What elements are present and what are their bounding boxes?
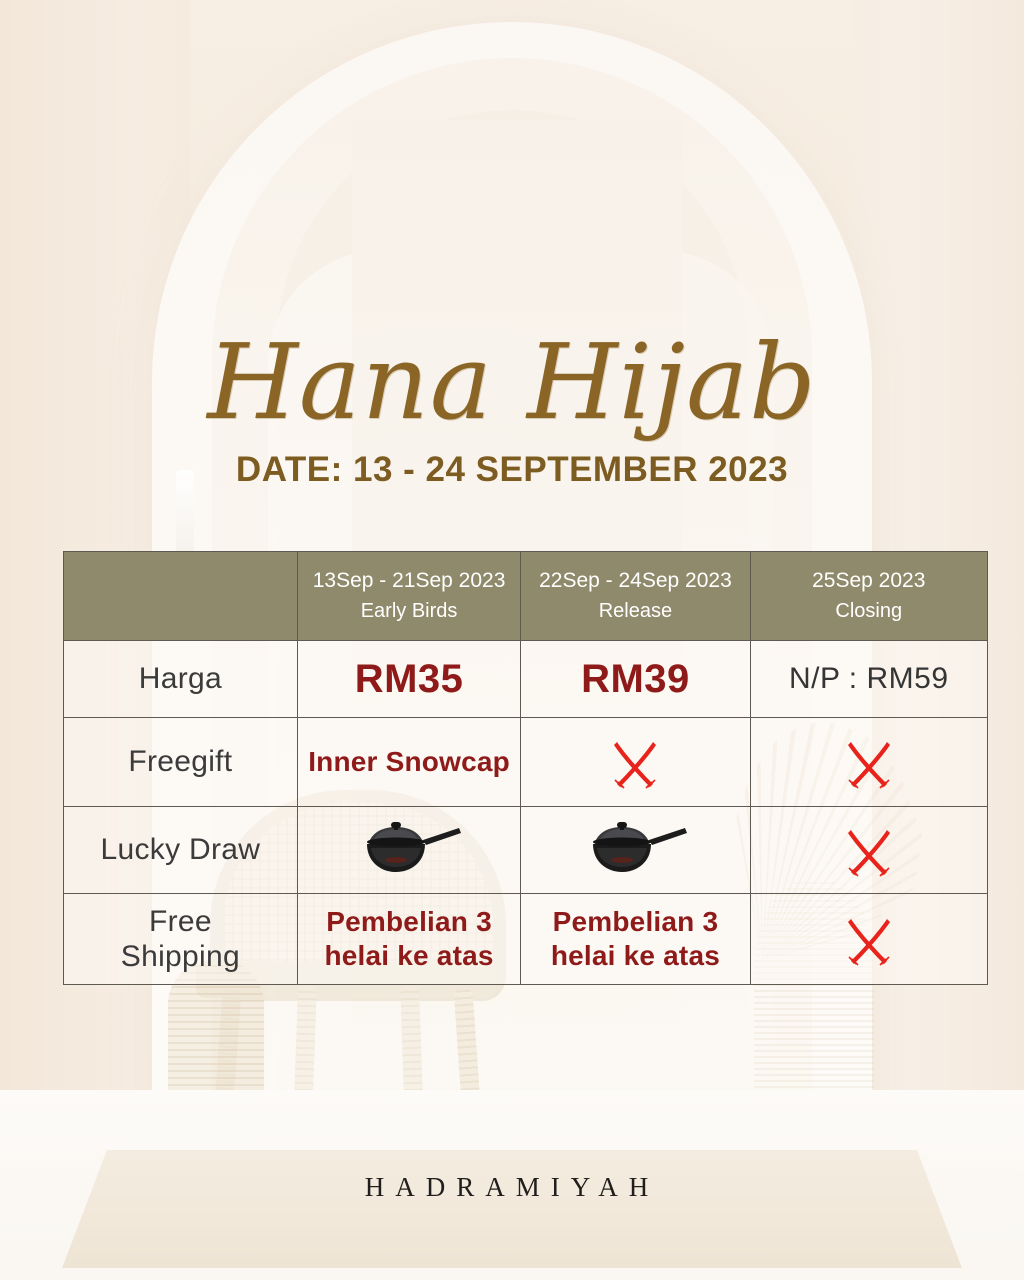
wok-pan-icon [575, 820, 695, 880]
cell-freegift-release [521, 718, 750, 807]
header-cell-release: 22Sep - 24Sep 2023 Release [521, 552, 750, 641]
cell-freegift-closing [750, 718, 988, 807]
row-label-lucky-draw: Lucky Draw [64, 807, 298, 894]
label-free-shipping-line2: Shipping [121, 940, 240, 973]
cell-harga-closing: N/P : RM59 [750, 641, 988, 718]
floor-rug [62, 1150, 962, 1268]
header-closing-dates: 25Sep 2023 [812, 569, 925, 592]
table-row-free-shipping: Free Shipping Pembelian 3 helai ke atas … [64, 894, 988, 985]
shipping-release: Pembelian 3 helai ke atas [551, 906, 720, 971]
chair-leg-back-left [294, 986, 317, 1099]
table-row-lucky-draw: Lucky Draw [64, 807, 988, 894]
header-early-birds-dates: 13Sep - 21Sep 2023 [313, 569, 506, 592]
shipping-early-birds: Pembelian 3 helai ke atas [324, 906, 493, 971]
header-release-label: Release [521, 597, 749, 626]
table-header-row: 13Sep - 21Sep 2023 Early Birds 22Sep - 2… [64, 552, 988, 641]
header-closing-label: Closing [751, 597, 988, 626]
cell-free-shipping-closing [750, 894, 988, 985]
label-freegift: Freegift [128, 745, 232, 778]
price-closing: N/P : RM59 [789, 662, 949, 695]
footer-brand: HADRAMIYAH [0, 1172, 1024, 1203]
cell-lucky-draw-release [521, 807, 750, 894]
x-mark-icon [841, 822, 897, 878]
label-free-shipping: Free Shipping [121, 905, 240, 973]
label-lucky-draw: Lucky Draw [101, 833, 261, 866]
header-early-birds-label: Early Birds [298, 597, 521, 626]
shipping-release-line1: Pembelian 3 [553, 906, 719, 937]
cell-lucky-draw-early-birds [297, 807, 521, 894]
cell-lucky-draw-closing [750, 807, 988, 894]
table-body: Harga RM35 RM39 N/P : RM59 Freegift [64, 641, 988, 985]
chair-leg-back-right [400, 986, 423, 1099]
table-row-freegift: Freegift Inner Snowcap [64, 718, 988, 807]
x-mark-icon [841, 911, 897, 967]
shipping-early-birds-line1: Pembelian 3 [326, 906, 492, 937]
cell-free-shipping-early-birds: Pembelian 3 helai ke atas [297, 894, 521, 985]
label-harga: Harga [139, 662, 222, 695]
promo-poster: Hana Hijab DATE: 13 - 24 SEPTEMBER 2023 … [0, 0, 1024, 1280]
promo-table: 13Sep - 21Sep 2023 Early Birds 22Sep - 2… [63, 551, 988, 985]
row-label-free-shipping: Free Shipping [64, 894, 298, 985]
header-cell-closing: 25Sep 2023 Closing [750, 552, 988, 641]
x-mark-icon [841, 734, 897, 790]
price-early-birds: RM35 [355, 657, 464, 701]
header-release-dates: 22Sep - 24Sep 2023 [539, 569, 732, 592]
wok-pan-icon [349, 820, 469, 880]
cell-free-shipping-release: Pembelian 3 helai ke atas [521, 894, 750, 985]
row-label-freegift: Freegift [64, 718, 298, 807]
x-mark-icon [607, 734, 663, 790]
shipping-release-line2: helai ke atas [551, 940, 720, 971]
promo-date-range: DATE: 13 - 24 SEPTEMBER 2023 [0, 450, 1024, 490]
cell-harga-early-birds: RM35 [297, 641, 521, 718]
header-cell-blank [64, 552, 298, 641]
promo-table-container: 13Sep - 21Sep 2023 Early Birds 22Sep - 2… [63, 551, 988, 985]
cell-freegift-early-birds: Inner Snowcap [297, 718, 521, 807]
header-cell-early-birds: 13Sep - 21Sep 2023 Early Birds [297, 552, 521, 641]
label-free-shipping-line1: Free [149, 905, 212, 938]
title-block: Hana Hijab DATE: 13 - 24 SEPTEMBER 2023 [0, 330, 1024, 490]
shipping-early-birds-line2: helai ke atas [324, 940, 493, 971]
page-title: Hana Hijab [0, 330, 1024, 434]
freegift-early-birds: Inner Snowcap [308, 746, 510, 777]
table-header: 13Sep - 21Sep 2023 Early Birds 22Sep - 2… [64, 552, 988, 641]
row-label-harga: Harga [64, 641, 298, 718]
price-release: RM39 [581, 657, 690, 701]
table-row-harga: Harga RM35 RM39 N/P : RM59 [64, 641, 988, 718]
cell-harga-release: RM39 [521, 641, 750, 718]
